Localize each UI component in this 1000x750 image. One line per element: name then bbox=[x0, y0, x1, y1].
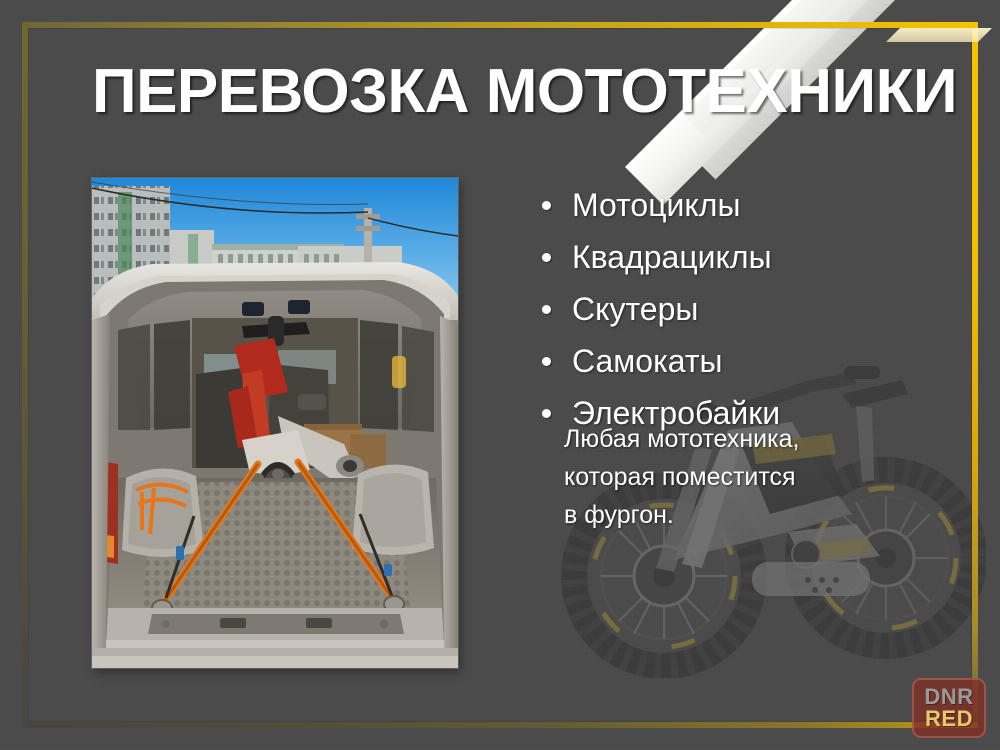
description-line-1: Любая мототехника, bbox=[564, 420, 964, 458]
description-line-2: которая поместится bbox=[564, 458, 964, 496]
frame-edge-left bbox=[22, 22, 28, 728]
slide-canvas: ПЕРЕВОЗКА МОТОТЕХНИКИ bbox=[0, 0, 1000, 750]
description-line-3: в фургон. bbox=[564, 496, 964, 534]
bullet-dot-icon bbox=[542, 305, 551, 314]
list-item: Квадрациклы bbox=[532, 234, 972, 280]
page-title: ПЕРЕВОЗКА МОТОТЕХНИКИ bbox=[92, 60, 922, 123]
list-item: Скутеры bbox=[532, 286, 972, 332]
bullet-dot-icon bbox=[542, 253, 551, 262]
list-item: Самокаты bbox=[532, 338, 972, 384]
bullet-dot-icon bbox=[542, 357, 551, 366]
dnr-red-watermark: DNR RED bbox=[912, 678, 986, 738]
description-paragraph: Любая мототехника, которая поместится в … bbox=[564, 420, 964, 534]
frame-edge-bottom bbox=[22, 722, 978, 728]
bullet-dot-icon bbox=[542, 409, 551, 418]
list-item: Мотоциклы bbox=[532, 182, 972, 228]
features-list: Мотоциклы Квадрациклы Скутеры Самокаты Э… bbox=[532, 182, 972, 442]
ribbon-gold-overlap bbox=[886, 28, 992, 42]
list-item-label: Скутеры bbox=[572, 291, 698, 327]
watermark-line-2: RED bbox=[925, 708, 973, 730]
frame-edge-right bbox=[972, 22, 978, 728]
list-item-label: Самокаты bbox=[572, 343, 723, 379]
list-item-label: Квадрациклы bbox=[572, 239, 772, 275]
bullet-dot-icon bbox=[542, 201, 551, 210]
watermark-line-1: DNR bbox=[924, 686, 973, 708]
van-loading-photo bbox=[92, 178, 458, 668]
frame-edge-top bbox=[22, 22, 978, 28]
list-item-label: Мотоциклы bbox=[572, 187, 740, 223]
